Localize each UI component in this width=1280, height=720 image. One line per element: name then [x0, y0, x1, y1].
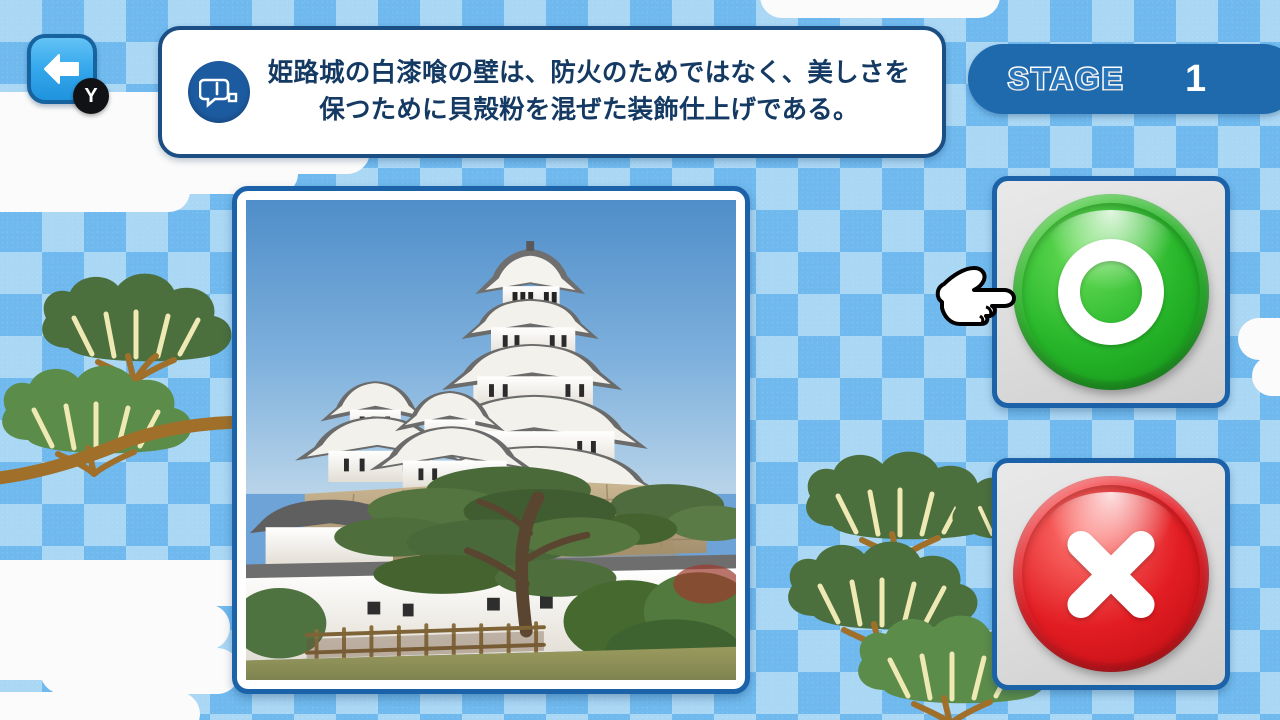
button-hint-y: Y — [73, 78, 109, 114]
stage-number: 1 — [1185, 58, 1206, 101]
cloud-band — [0, 692, 200, 720]
himeji-castle-photo — [246, 200, 736, 680]
cloud-band — [760, 0, 1000, 18]
correct-button[interactable] — [992, 176, 1230, 408]
question-mark-icon — [188, 61, 250, 123]
incorrect-button-circle[interactable] — [1013, 476, 1209, 672]
game-screen: Y 姫路城の白漆喰の壁は、防火のためではなく、美しさを保つために貝殻粉を混ぜた装… — [0, 0, 1280, 720]
cloud-band — [40, 648, 240, 694]
incorrect-button[interactable] — [992, 458, 1230, 690]
question-image-frame — [232, 186, 750, 694]
question-text: 姫路城の白漆喰の壁は、防火のためではなく、美しさを保つために貝殻粉を混ぜた装飾仕… — [250, 55, 942, 129]
left-arrow-icon — [43, 53, 81, 85]
correct-button-circle[interactable] — [1013, 194, 1209, 390]
question-panel: 姫路城の白漆喰の壁は、防火のためではなく、美しさを保つために貝殻粉を混ぜた装飾仕… — [158, 26, 946, 158]
stage-badge: STAGE 1 — [968, 44, 1280, 114]
pointing-hand-cursor[interactable] — [934, 258, 1018, 330]
stage-label: STAGE — [1008, 61, 1125, 97]
back-button-group[interactable]: Y — [27, 34, 123, 130]
q-letter-icon — [199, 74, 239, 110]
cloud-band — [1238, 318, 1280, 360]
circle-o-icon — [1013, 194, 1209, 390]
pine-branch — [0, 418, 260, 498]
cross-x-icon — [1013, 476, 1209, 672]
